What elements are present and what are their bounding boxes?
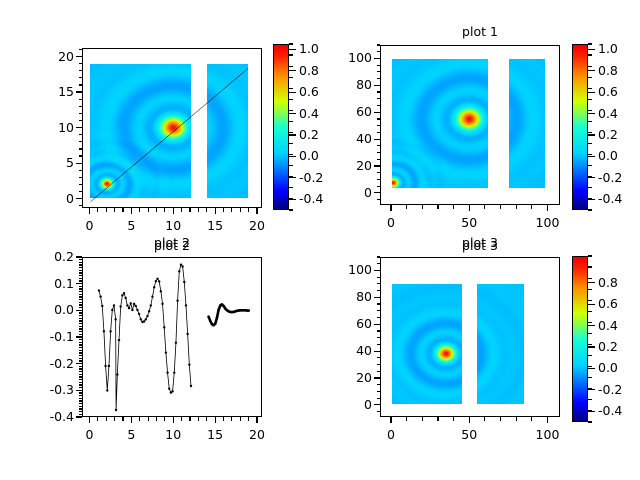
y-minor-tick (377, 44, 381, 45)
y-minor-tick (79, 307, 83, 308)
x-minor-tick (97, 208, 98, 212)
y-minor-tick (79, 184, 83, 185)
offset-title-plot2: plot 2 (154, 237, 190, 250)
y-minor-tick (79, 288, 83, 289)
colorbar-minor-tick (588, 266, 592, 267)
y-minor-tick (79, 350, 83, 351)
panel-top-left: 0510152005101520 -0.4-0.20.00.20.40.60.8… (0, 0, 320, 240)
y-minor-tick (377, 263, 381, 264)
y-minor-tick (377, 152, 381, 153)
y-tick-label: 80 (318, 79, 372, 92)
y-minor-tick (79, 342, 83, 343)
y-major-tick (374, 351, 380, 352)
y-minor-tick (79, 113, 83, 114)
y-minor-tick (79, 99, 83, 100)
colorbar-minor-tick (588, 132, 592, 133)
y-minor-tick (79, 270, 83, 271)
colorbar-tick-label: 1.0 (598, 43, 618, 56)
x-major-tick (89, 417, 90, 423)
colorbar-minor-tick (289, 187, 293, 188)
y-minor-tick (79, 264, 83, 265)
colorbar-tick-label: 0.4 (598, 319, 618, 332)
colorbar-major-tick (289, 199, 296, 200)
y-tick-label: 0 (318, 399, 372, 412)
y-minor-tick (79, 205, 83, 206)
y-major-tick (374, 165, 380, 166)
x-minor-tick (106, 417, 107, 421)
y-tick-label: 0.2 (20, 251, 74, 264)
y-tick-label: 20 (20, 50, 74, 63)
y-minor-tick (79, 411, 83, 412)
x-minor-tick (437, 417, 438, 421)
colorbar-tick-label: 1.0 (299, 43, 319, 56)
y-minor-tick (377, 51, 381, 52)
colorbar-tick-label: 0.0 (299, 150, 319, 163)
x-minor-tick (206, 208, 207, 212)
y-minor-tick (79, 352, 83, 353)
x-minor-tick (240, 417, 241, 421)
x-tick-label: 0 (387, 429, 395, 442)
x-tick-label: 0 (86, 220, 94, 233)
colorbar-major-tick (588, 134, 595, 135)
y-minor-tick (79, 387, 83, 388)
x-tick-label: 20 (249, 429, 265, 442)
y-minor-tick (79, 259, 83, 260)
x-minor-tick (231, 417, 232, 421)
y-minor-tick (79, 408, 83, 409)
y-tick-label: 15 (20, 86, 74, 99)
colorbar-gradient (573, 257, 587, 421)
y-major-tick (76, 198, 82, 199)
colorbar-minor-tick (588, 344, 592, 345)
colorbar-top-right (572, 44, 588, 210)
line-series-overlay (83, 258, 262, 417)
pseudocolor-image (381, 46, 559, 204)
y-minor-tick (79, 347, 83, 348)
x-tick-label: 15 (207, 429, 223, 442)
x-tick-label: 100 (536, 429, 560, 442)
y-major-tick (374, 270, 380, 271)
y-minor-tick (79, 141, 83, 142)
colorbar-minor-tick (588, 278, 592, 279)
x-tick-label: 5 (127, 429, 135, 442)
colorbar-minor-tick (588, 289, 592, 290)
x-minor-tick (156, 208, 157, 212)
x-minor-tick (114, 208, 115, 212)
y-minor-tick (79, 286, 83, 287)
x-minor-tick (406, 417, 407, 421)
y-minor-tick (377, 384, 381, 385)
x-tick-label: 10 (165, 429, 181, 442)
colorbar-minor-tick (588, 322, 592, 323)
axes-top-right[interactable] (380, 45, 560, 205)
colorbar-tick-label: 0.6 (299, 86, 319, 99)
x-minor-tick (198, 208, 199, 212)
colorbar-minor-tick (588, 311, 592, 312)
y-minor-tick (377, 159, 381, 160)
colorbar-minor-tick (588, 77, 592, 78)
y-tick-label: 0 (318, 187, 372, 200)
y-minor-tick (79, 392, 83, 393)
y-minor-tick (377, 371, 381, 372)
colorbar-minor-tick (588, 377, 592, 378)
x-minor-tick (453, 417, 454, 421)
x-major-tick (547, 205, 548, 211)
y-minor-tick (377, 391, 381, 392)
colorbar-minor-tick (289, 143, 293, 144)
y-tick-label: 0.0 (20, 304, 74, 317)
panel-bottom-right: plot 3 020406080100050100 -0.4-0.20.00.2… (320, 240, 640, 480)
y-minor-tick (79, 296, 83, 297)
y-minor-tick (377, 145, 381, 146)
y-minor-tick (79, 191, 83, 192)
x-minor-tick (223, 208, 224, 212)
y-minor-tick (377, 344, 381, 345)
y-minor-tick (377, 277, 381, 278)
x-minor-tick (148, 208, 149, 212)
x-minor-tick (516, 417, 517, 421)
colorbar-minor-tick (588, 300, 592, 301)
y-minor-tick (377, 179, 381, 180)
axes-bottom-right[interactable] (380, 257, 560, 417)
y-tick-label: 40 (318, 345, 372, 358)
y-tick-label: 60 (318, 318, 372, 331)
y-minor-tick (79, 400, 83, 401)
y-minor-tick (79, 358, 83, 359)
colorbar-minor-tick (588, 66, 592, 67)
y-tick-label: 20 (318, 372, 372, 385)
y-major-tick (374, 112, 380, 113)
y-minor-tick (79, 315, 83, 316)
x-minor-tick (139, 208, 140, 212)
colorbar-minor-tick (588, 399, 592, 400)
line-path (209, 304, 249, 325)
y-minor-tick (79, 360, 83, 361)
colorbar-tick-label: 0.4 (299, 107, 319, 120)
y-minor-tick (79, 49, 83, 50)
colorbar-bottom-right (572, 256, 588, 422)
y-minor-tick (377, 71, 381, 72)
y-minor-tick (79, 328, 83, 329)
colorbar-tick-label: -0.2 (598, 384, 622, 397)
colorbar-minor-tick (588, 255, 592, 256)
x-minor-tick (516, 205, 517, 209)
y-minor-tick (79, 366, 83, 367)
y-minor-tick (377, 330, 381, 331)
y-tick-label: -0.4 (20, 411, 74, 424)
x-tick-label: 0 (86, 429, 94, 442)
y-minor-tick (377, 65, 381, 66)
x-tick-label: 20 (249, 220, 265, 233)
y-minor-tick (377, 317, 381, 318)
y-minor-tick (79, 376, 83, 377)
y-minor-tick (79, 320, 83, 321)
y-minor-tick (79, 331, 83, 332)
colorbar-major-tick (588, 92, 595, 93)
x-minor-tick (189, 208, 190, 212)
y-minor-tick (79, 278, 83, 279)
colorbar-major-tick (588, 325, 595, 326)
y-major-tick (76, 390, 82, 391)
colorbar-minor-tick (588, 355, 592, 356)
y-tick-label: 5 (20, 157, 74, 170)
x-minor-tick (114, 417, 115, 421)
colorbar-tick-label: -0.2 (598, 172, 622, 185)
x-minor-tick (181, 417, 182, 421)
y-minor-tick (79, 302, 83, 303)
x-tick-label: 50 (461, 429, 477, 442)
y-tick-label: -0.3 (20, 384, 74, 397)
y-minor-tick (377, 105, 381, 106)
x-tick-label: 15 (207, 220, 223, 233)
x-minor-tick (223, 417, 224, 421)
colorbar-tick-label: 0.0 (598, 150, 618, 163)
y-minor-tick (79, 339, 83, 340)
colorbar-minor-tick (588, 187, 592, 188)
colorbar-major-tick (588, 177, 595, 178)
line-markers (98, 263, 193, 411)
x-major-tick (215, 208, 216, 214)
y-minor-tick (79, 395, 83, 396)
y-major-tick (76, 56, 82, 57)
axes-top-left[interactable] (82, 48, 262, 208)
y-minor-tick (79, 63, 83, 64)
y-minor-tick (79, 406, 83, 407)
y-tick-label: 10 (20, 121, 74, 134)
y-minor-tick (377, 186, 381, 187)
colorbar-minor-tick (289, 77, 293, 78)
axes-bottom-left[interactable] (82, 257, 262, 417)
colorbar-minor-tick (588, 54, 592, 55)
x-major-tick (547, 417, 548, 423)
colorbar-major-tick (588, 199, 595, 200)
y-minor-tick (79, 134, 83, 135)
colorbar-tick-label: 0.8 (299, 65, 319, 78)
colorbar-minor-tick (289, 121, 293, 122)
y-major-tick (76, 363, 82, 364)
line-markers (207, 303, 250, 326)
x-minor-tick (500, 205, 501, 209)
y-minor-tick (79, 304, 83, 305)
y-minor-tick (377, 172, 381, 173)
y-minor-tick (79, 294, 83, 295)
x-minor-tick (531, 417, 532, 421)
y-tick-label: 80 (318, 291, 372, 304)
colorbar-major-tick (588, 304, 595, 305)
colorbar-major-tick (588, 411, 595, 412)
y-tick-label: -0.1 (20, 331, 74, 344)
colorbar-minor-tick (588, 421, 592, 422)
x-major-tick (469, 417, 470, 423)
y-minor-tick (377, 78, 381, 79)
y-major-tick (76, 336, 82, 337)
y-minor-tick (377, 118, 381, 119)
y-minor-tick (377, 132, 381, 133)
y-minor-tick (79, 312, 83, 313)
y-minor-tick (377, 290, 381, 291)
y-minor-tick (79, 323, 83, 324)
x-tick-label: 5 (127, 220, 135, 233)
colorbar-minor-tick (588, 209, 592, 210)
y-minor-tick (79, 326, 83, 327)
y-minor-tick (79, 267, 83, 268)
colorbar-minor-tick (289, 110, 293, 111)
x-minor-tick (156, 417, 157, 421)
y-major-tick (76, 256, 82, 257)
y-minor-tick (377, 98, 381, 99)
colorbar-major-tick (588, 113, 595, 114)
y-tick-label: 100 (318, 264, 372, 277)
colorbar-tick-label: 0.4 (598, 107, 618, 120)
x-minor-tick (406, 205, 407, 209)
colorbar-tick-label: 0.2 (299, 129, 319, 142)
colorbar-gradient (274, 45, 288, 209)
y-major-tick (76, 283, 82, 284)
pseudocolor-image (381, 258, 559, 416)
y-major-tick (374, 192, 380, 193)
colorbar-major-tick (588, 70, 595, 71)
y-minor-tick (79, 291, 83, 292)
y-minor-tick (79, 318, 83, 319)
colorbar-tick-label: 0.2 (598, 129, 618, 142)
x-minor-tick (164, 417, 165, 421)
x-minor-tick (437, 205, 438, 209)
colorbar-minor-tick (289, 54, 293, 55)
colorbar-major-tick (289, 92, 296, 93)
colorbar-major-tick (588, 282, 595, 283)
panel-top-right: plot 1 020406080100050100 -0.4-0.20.00.2… (320, 0, 640, 240)
y-minor-tick (377, 256, 381, 257)
x-minor-tick (231, 208, 232, 212)
y-minor-tick (377, 91, 381, 92)
colorbar-minor-tick (588, 110, 592, 111)
y-minor-tick (377, 125, 381, 126)
colorbar-minor-tick (588, 88, 592, 89)
colorbar-minor-tick (588, 143, 592, 144)
y-minor-tick (79, 355, 83, 356)
x-major-tick (469, 205, 470, 211)
colorbar-tick-label: 0.6 (598, 86, 618, 99)
colorbar-minor-tick (289, 209, 293, 210)
y-minor-tick (79, 334, 83, 335)
y-minor-tick (377, 337, 381, 338)
x-minor-tick (181, 208, 182, 212)
y-major-tick (76, 127, 82, 128)
y-minor-tick (79, 398, 83, 399)
x-major-tick (256, 208, 257, 214)
x-minor-tick (500, 417, 501, 421)
y-minor-tick (79, 84, 83, 85)
colorbar-minor-tick (588, 165, 592, 166)
y-minor-tick (377, 357, 381, 358)
panel-bottom-left: plot 2 -0.4-0.3-0.2-0.10.00.10.205101520 (0, 240, 320, 480)
colorbar-major-tick (289, 49, 296, 50)
y-minor-tick (377, 199, 381, 200)
x-major-tick (256, 417, 257, 423)
y-minor-tick (79, 299, 83, 300)
colorbar-major-tick (588, 368, 595, 369)
colorbar-top-left (273, 44, 289, 210)
colorbar-tick-label: -0.4 (598, 193, 622, 206)
x-minor-tick (189, 417, 190, 421)
colorbar-minor-tick (289, 43, 293, 44)
x-minor-tick (248, 417, 249, 421)
x-minor-tick (148, 417, 149, 421)
y-minor-tick (377, 364, 381, 365)
y-major-tick (374, 58, 380, 59)
y-minor-tick (79, 384, 83, 385)
y-tick-label: 0 (20, 193, 74, 206)
offset-title-plot3: plot 3 (462, 237, 498, 250)
y-minor-tick (79, 77, 83, 78)
x-minor-tick (484, 205, 485, 209)
y-minor-tick (79, 280, 83, 281)
y-major-tick (374, 297, 380, 298)
y-major-tick (374, 404, 380, 405)
line-path (99, 265, 191, 410)
y-minor-tick (377, 411, 381, 412)
y-minor-tick (79, 70, 83, 71)
x-minor-tick (240, 208, 241, 212)
x-minor-tick (122, 417, 123, 421)
y-minor-tick (79, 379, 83, 380)
x-minor-tick (484, 417, 485, 421)
colorbar-tick-label: 0.8 (598, 277, 618, 290)
y-major-tick (76, 91, 82, 92)
x-tick-label: 100 (536, 217, 560, 230)
y-tick-label: 40 (318, 133, 372, 146)
colorbar-major-tick (289, 113, 296, 114)
x-minor-tick (422, 417, 423, 421)
x-major-tick (131, 208, 132, 214)
colorbar-tick-label: 0.2 (598, 341, 618, 354)
y-minor-tick (79, 262, 83, 263)
colorbar-major-tick (289, 70, 296, 71)
colorbar-major-tick (289, 156, 296, 157)
pseudocolor-image (83, 49, 261, 207)
x-minor-tick (248, 208, 249, 212)
y-major-tick (374, 85, 380, 86)
y-minor-tick (79, 403, 83, 404)
colorbar-minor-tick (289, 165, 293, 166)
y-minor-tick (79, 170, 83, 171)
y-tick-label: 60 (318, 106, 372, 119)
x-minor-tick (531, 205, 532, 209)
x-tick-label: 10 (165, 220, 181, 233)
x-tick-label: 0 (387, 217, 395, 230)
y-minor-tick (79, 155, 83, 156)
x-minor-tick (139, 417, 140, 421)
colorbar-minor-tick (588, 43, 592, 44)
x-minor-tick (422, 205, 423, 209)
colorbar-gradient (573, 45, 587, 209)
x-minor-tick (97, 417, 98, 421)
colorbar-tick-label: 0.8 (598, 65, 618, 78)
x-minor-tick (198, 417, 199, 421)
y-minor-tick (377, 283, 381, 284)
y-major-tick (76, 163, 82, 164)
y-major-tick (374, 324, 380, 325)
y-major-tick (374, 139, 380, 140)
x-minor-tick (453, 205, 454, 209)
colorbar-major-tick (588, 156, 595, 157)
y-minor-tick (79, 177, 83, 178)
colorbar-tick-label: 0.0 (598, 362, 618, 375)
x-minor-tick (206, 417, 207, 421)
colorbar-minor-tick (289, 88, 293, 89)
colorbar-major-tick (289, 134, 296, 135)
x-major-tick (173, 417, 174, 423)
